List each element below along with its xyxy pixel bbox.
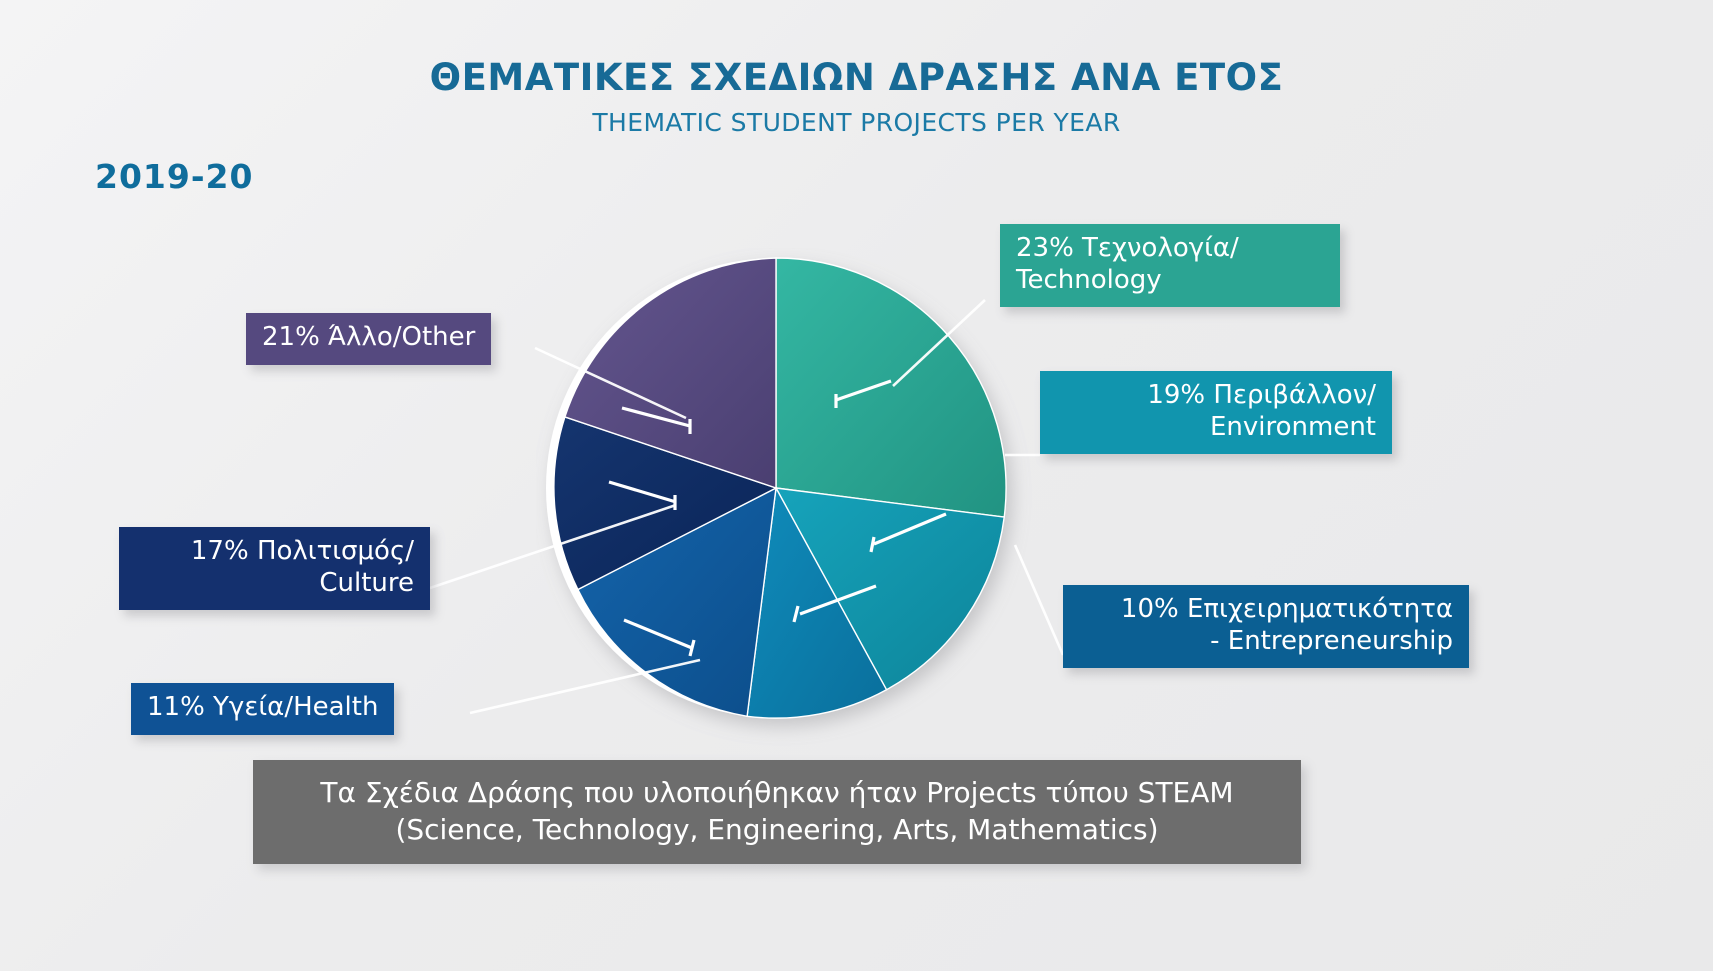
callout-technology[interactable]: 23% Τεχνολογία/ Technology [1000,224,1340,307]
caption-line-2: (Science, Technology, Engineering, Arts,… [275,811,1279,848]
callout-entrepreneurship[interactable]: 10% Επιχειρηματικότητα - Entrepreneurshi… [1063,585,1469,668]
page-subtitle-english: THEMATIC STUDENT PROJECTS PER YEAR [0,108,1713,137]
page-title-greek: ΘΕΜΑΤΙΚΕΣ ΣΧΕΔΙΩΝ ΔΡΑΣΗΣ ΑΝΑ ΕΤΟΣ [0,56,1713,99]
pie-chart [536,248,1036,748]
pie-chart-svg [536,248,1036,748]
callout-other[interactable]: 21% Άλλο/Other [246,313,491,365]
infographic-canvas: ΘΕΜΑΤΙΚΕΣ ΣΧΕΔΙΩΝ ΔΡΑΣΗΣ ΑΝΑ ΕΤΟΣ THEMAT… [0,0,1713,971]
year-label: 2019-20 [95,157,253,196]
footer-caption: Τα Σχέδια Δράσης που υλοποιήθηκαν ήταν P… [253,760,1301,864]
callout-culture[interactable]: 17% Πολιτισμός/ Culture [119,527,430,610]
caption-line-1: Τα Σχέδια Δράσης που υλοποιήθηκαν ήταν P… [275,774,1279,811]
pie-slice-technology [776,258,1006,517]
callout-environment[interactable]: 19% Περιβάλλον/ Environment [1040,371,1392,454]
callout-health[interactable]: 11% Υγεία/Health [131,683,394,735]
